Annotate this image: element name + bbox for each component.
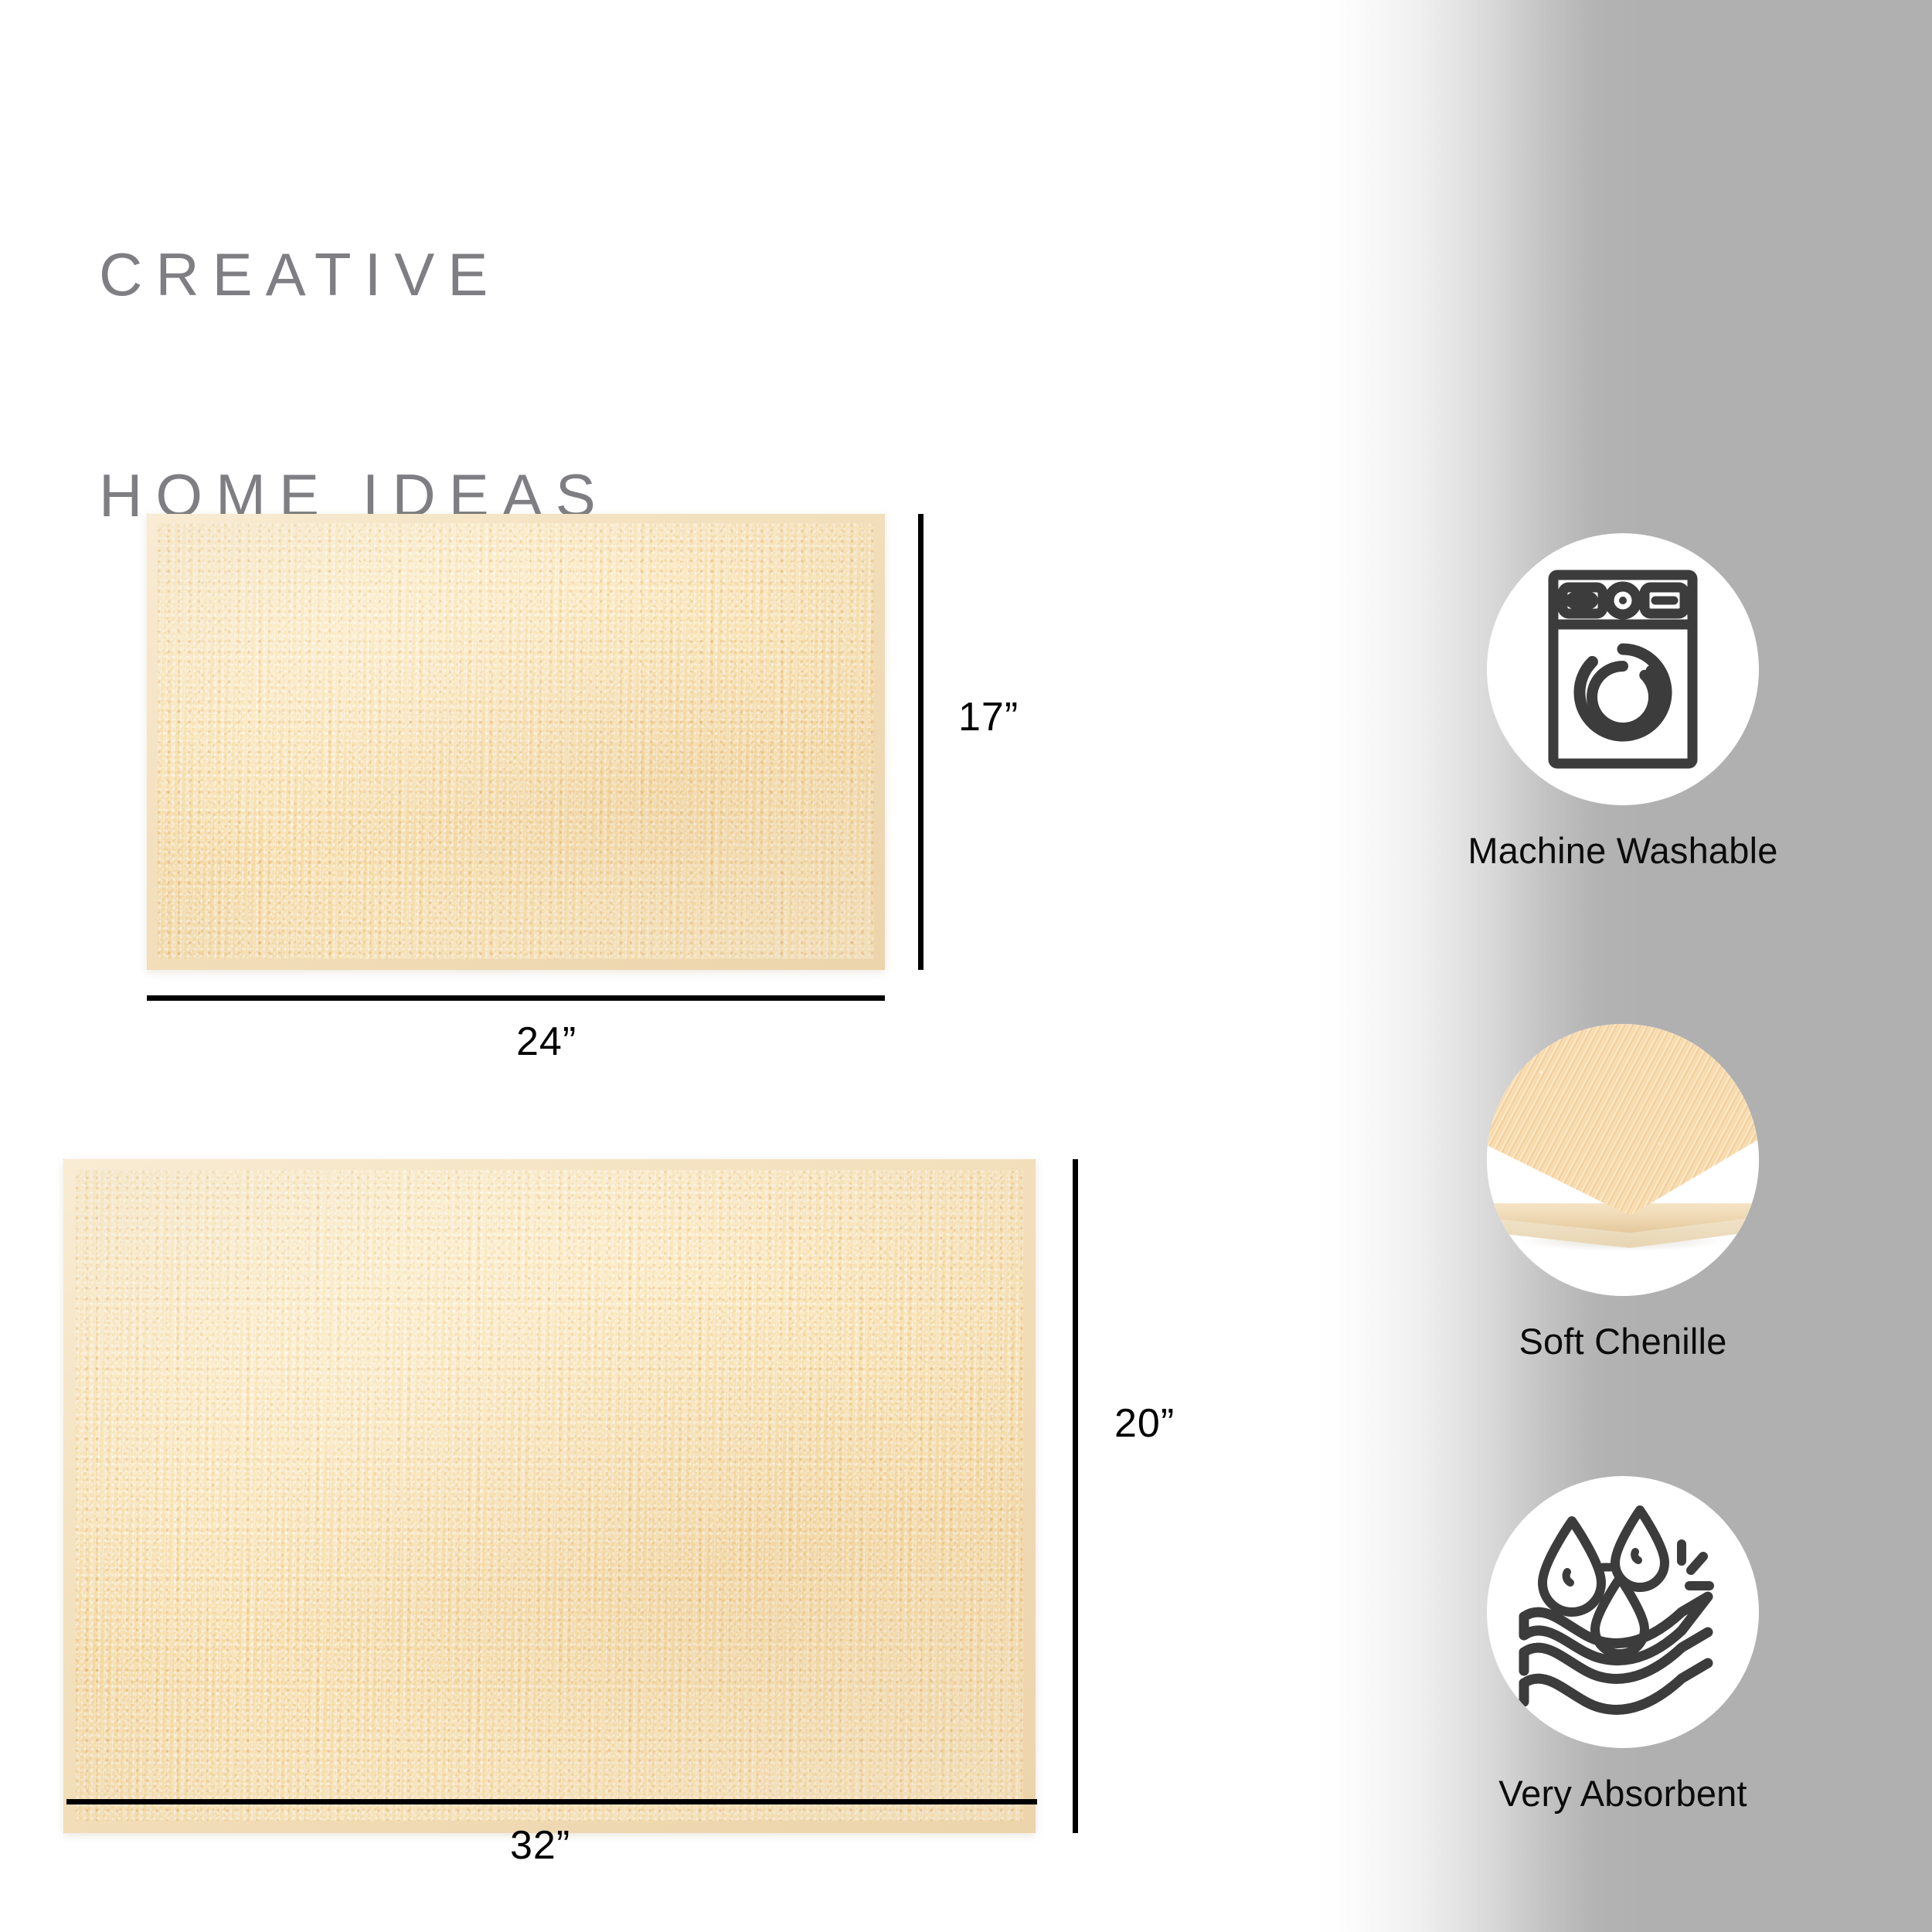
brand-logo-line-1: CREATIVE bbox=[99, 238, 609, 311]
water-drops-layers-icon bbox=[1487, 1476, 1759, 1748]
large-rug-height-dimension-line bbox=[1073, 1159, 1078, 1833]
large-rug-chenille-pile bbox=[76, 1170, 1023, 1821]
product-image-large-rug bbox=[63, 1159, 1036, 1833]
feature-soft-chenille: Soft Chenille bbox=[1314, 1024, 1932, 1360]
swatch-chenille-surface bbox=[1487, 1024, 1759, 1216]
feature-very-absorbent: Very Absorbent bbox=[1314, 1476, 1932, 1812]
small-rug-width-dimension-line bbox=[147, 995, 885, 1001]
feature-label-very-absorbent: Very Absorbent bbox=[1314, 1774, 1932, 1812]
small-rug-width-label: 24” bbox=[516, 1019, 577, 1065]
feature-swatch-circle bbox=[1487, 1024, 1759, 1296]
chenille-swatch-photo bbox=[1487, 1024, 1759, 1296]
feature-icon-circle bbox=[1487, 533, 1759, 805]
infographic-canvas: CREATIVE HOME IDEAS 17” 24” 20” 32” bbox=[0, 0, 1932, 1932]
large-rug-width-label: 32” bbox=[510, 1822, 570, 1869]
large-rug-height-label: 20” bbox=[1114, 1400, 1175, 1447]
small-rug-chenille-pile bbox=[158, 523, 874, 959]
small-rug-height-dimension-line bbox=[918, 514, 923, 970]
feature-machine-washable: Machine Washable bbox=[1314, 533, 1932, 869]
feature-panel: Machine Washable Soft Chenille bbox=[1314, 0, 1932, 1932]
product-image-small-rug bbox=[147, 514, 885, 970]
washing-machine-icon bbox=[1487, 533, 1759, 805]
feature-label-machine-washable: Machine Washable bbox=[1314, 832, 1932, 869]
small-rug-height-label: 17” bbox=[958, 694, 1019, 740]
feature-label-soft-chenille: Soft Chenille bbox=[1314, 1322, 1932, 1360]
feature-icon-circle bbox=[1487, 1476, 1759, 1748]
large-rug-width-dimension-line bbox=[66, 1799, 1037, 1804]
